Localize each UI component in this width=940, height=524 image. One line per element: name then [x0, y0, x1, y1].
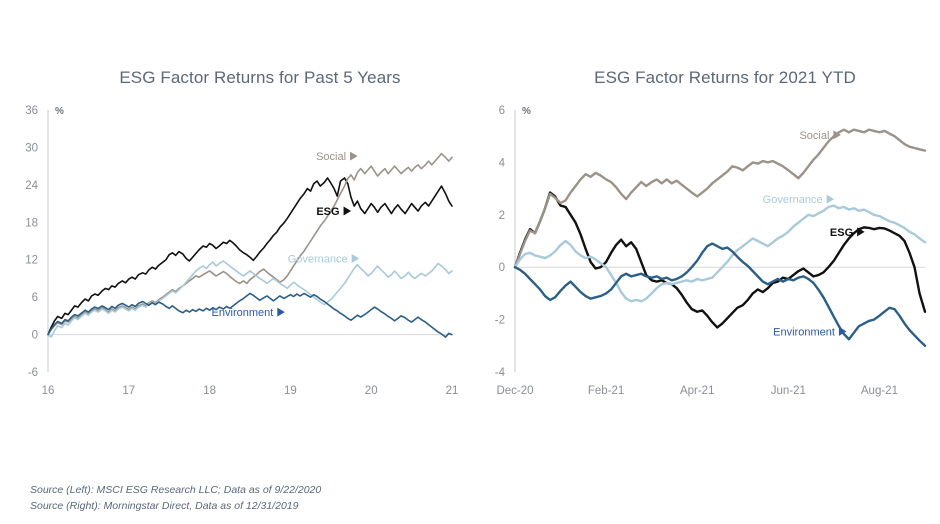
x-tick-label: Apr-21 — [680, 385, 715, 397]
line-chart-right: 6420-2-4%Dec-20Feb-21Apr-21Jun-21Aug-21E… — [470, 100, 940, 400]
y-tick-label: 36 — [25, 105, 38, 117]
series-label-environment: Environment — [773, 326, 846, 338]
x-tick-label: 17 — [122, 385, 135, 397]
x-tick-label: Aug-21 — [861, 385, 898, 397]
series-line-governance — [48, 261, 452, 337]
series-label-environment: Environment — [212, 307, 285, 319]
source-note-left: Source (Left): MSCI ESG Research LLC; Da… — [30, 482, 321, 498]
series-label-text-governance: Governance — [763, 194, 823, 206]
x-tick-label: 21 — [446, 385, 459, 397]
chart-title-left: ESG Factor Returns for Past 5 Years — [0, 68, 470, 88]
x-tick-label: 19 — [284, 385, 297, 397]
series-label-text-social: Social — [799, 130, 829, 142]
y-tick-label: 12 — [25, 255, 38, 267]
series-label-arrow-governance — [352, 254, 360, 263]
series-label-text-esg: ESG — [830, 227, 853, 239]
y-tick-label: 18 — [25, 217, 38, 229]
charts-row: ESG Factor Returns for Past 5 Years 3630… — [0, 0, 940, 440]
series-label-text-governance: Governance — [288, 253, 348, 265]
figure-root: ESG Factor Returns for Past 5 Years 3630… — [0, 0, 940, 524]
y-tick-label: -4 — [495, 367, 506, 379]
y-tick-label: 0 — [499, 262, 505, 274]
series-label-text-social: Social — [316, 151, 346, 163]
y-tick-label: 30 — [25, 142, 38, 154]
y-axis-unit-label: % — [55, 106, 64, 117]
y-tick-label: 24 — [25, 180, 38, 192]
source-note-right: Source (Right): Morningstar Direct, Data… — [30, 498, 321, 514]
y-tick-label: -2 — [495, 315, 505, 327]
chart-panel-left: ESG Factor Returns for Past 5 Years 3630… — [0, 0, 470, 440]
series-label-social: Social — [316, 151, 357, 163]
x-tick-label: Dec-20 — [496, 385, 533, 397]
line-chart-left: 363024181260-6%161718192021ESGSocialGove… — [0, 100, 470, 400]
series-label-arrow-governance — [827, 195, 835, 204]
y-tick-label: 4 — [499, 157, 506, 169]
x-tick-label: Feb-21 — [588, 385, 624, 397]
series-label-governance: Governance — [288, 253, 359, 265]
series-label-governance: Governance — [763, 194, 834, 206]
x-tick-label: 18 — [203, 385, 216, 397]
y-tick-label: 6 — [32, 292, 38, 304]
y-tick-label: -6 — [28, 367, 38, 379]
series-line-esg — [515, 193, 925, 328]
x-tick-label: Jun-21 — [771, 385, 806, 397]
series-label-arrow-environment — [277, 308, 285, 317]
x-tick-label: 16 — [42, 385, 55, 397]
source-notes: Source (Left): MSCI ESG Research LLC; Da… — [30, 482, 321, 514]
x-tick-label: 20 — [365, 385, 378, 397]
series-label-arrow-social — [350, 152, 358, 161]
series-label-arrow-esg — [344, 207, 352, 216]
chart-title-right: ESG Factor Returns for 2021 YTD — [470, 68, 940, 88]
series-line-environment — [515, 244, 925, 346]
y-tick-label: 6 — [499, 105, 505, 117]
chart-panel-right: ESG Factor Returns for 2021 YTD 6420-2-4… — [470, 0, 940, 440]
series-label-esg: ESG — [316, 206, 351, 218]
series-label-text-environment: Environment — [773, 326, 835, 338]
y-tick-label: 0 — [32, 330, 38, 342]
y-axis-unit-label: % — [522, 106, 531, 117]
series-label-text-environment: Environment — [212, 307, 274, 319]
y-tick-label: 2 — [499, 210, 505, 222]
series-label-text-esg: ESG — [316, 206, 339, 218]
series-label-social: Social — [799, 130, 840, 142]
